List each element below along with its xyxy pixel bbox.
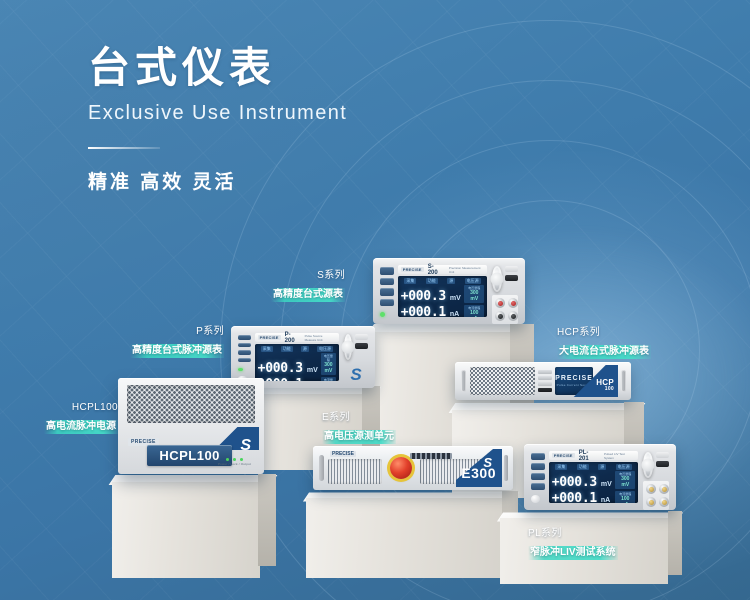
panel-button-dark[interactable]	[538, 388, 552, 392]
hcp-button-column[interactable]	[538, 367, 552, 395]
product-hcpl100[interactable]: PRECISE S HCPL100 Power / Lock / Output	[118, 378, 264, 474]
emergency-stop-button[interactable]	[390, 457, 412, 479]
label-s-series: S系列 高精度台式源表	[245, 270, 345, 303]
range-box: 电压量程 300 mV	[321, 353, 336, 375]
status-led-group	[218, 458, 251, 461]
current-readout-row: +000.1 nA	[401, 305, 462, 318]
rack-ear-right	[502, 449, 510, 487]
title-divider	[88, 147, 160, 149]
range-label: 电流量程	[323, 378, 334, 381]
knob-row[interactable]	[344, 334, 368, 360]
label-series: S系列	[245, 270, 345, 283]
model-sublabel: Pulse Source Measure Unit	[305, 334, 335, 342]
range-value: 100 nA	[466, 310, 482, 317]
rotary-knob[interactable]	[344, 334, 352, 360]
page-tagline: 精准 高效 灵活	[88, 167, 347, 194]
badge-subtext: 100	[596, 387, 614, 392]
range-box: 电压量程 300 mV	[464, 285, 484, 303]
hcp-front-panel: PRECISE Pulse Current Source HCP 100	[468, 365, 618, 397]
function-button[interactable]	[380, 299, 394, 307]
label-e-series: E系列 高电压源测单元	[322, 412, 432, 445]
lcd-tab[interactable]: 功能	[577, 464, 589, 470]
lcd-tab[interactable]: 电压源	[616, 464, 632, 470]
voltage-unit: mV	[450, 295, 461, 302]
voltage-unit: mV	[307, 367, 318, 374]
voltage-unit: mV	[601, 481, 612, 488]
range-label: 电压量程	[323, 354, 334, 362]
lcd-tab[interactable]: 源	[447, 278, 455, 284]
function-button[interactable]	[531, 483, 545, 490]
pedestal-e-series	[306, 488, 516, 506]
pedestal-front	[306, 498, 502, 578]
s-logo-icon: S	[240, 437, 251, 455]
brand-label: PRECISE	[401, 267, 424, 272]
lcd-main-area: +000.3 mV +000.1 nA 电压量程 300 mV 电流量程	[401, 285, 485, 317]
current-unit: nA	[601, 497, 610, 504]
e300-nameplate: E300	[461, 465, 496, 481]
current-value: +000.1	[552, 491, 597, 504]
label-hcpl100: HCPL100 高电流脉冲电源	[10, 402, 118, 435]
lcd-main-area: +000.3 mV +000.1 nA 电压量程 300 mV 电流量程	[258, 353, 336, 381]
current-value: +000.1	[258, 377, 303, 382]
panel-button[interactable]	[538, 382, 552, 386]
rack-handle[interactable]	[319, 455, 324, 482]
brand-label: PRECISE	[330, 451, 356, 457]
label-desc: 窄脉冲LIV测试系统	[528, 546, 618, 561]
output-button[interactable]	[505, 275, 518, 281]
label-hcp-series: HCP系列 大电流台式脉冲源表	[557, 327, 677, 360]
rotary-knob[interactable]	[643, 452, 653, 478]
range-value: 300 mV	[466, 290, 482, 302]
pedestal-front	[112, 482, 260, 578]
function-button[interactable]	[238, 350, 251, 355]
label-pl-series: PL系列 窄脉冲LIV测试系统	[528, 528, 658, 561]
output-button[interactable]	[355, 343, 368, 349]
lcd-readouts: +000.3 mV +000.1 nA	[401, 285, 462, 317]
mini-button-group[interactable]	[505, 266, 518, 281]
model-label: S-200	[428, 264, 442, 276]
model-sublabel: Precision Measurement Unit	[449, 266, 482, 274]
pedestal-hcp-series	[452, 398, 642, 418]
p-series-control-panel[interactable]: S	[341, 330, 371, 384]
lcd-tab[interactable]: 功能	[426, 278, 438, 284]
function-button[interactable]	[531, 453, 545, 460]
p-series-display-area: PRECISE P-200 Pulse Source Measure Unit …	[253, 330, 341, 384]
pedestal-pl-series	[500, 508, 680, 526]
hcp-badge: HCP 100	[596, 379, 614, 392]
model-sublabel: Pulsed LIV Test System	[604, 452, 633, 460]
range-box: 电压量程 300 mV	[615, 471, 635, 489]
p-series-button-rail[interactable]	[235, 330, 253, 384]
function-button[interactable]	[531, 463, 545, 470]
lcd-tab[interactable]: 源	[598, 464, 606, 470]
power-button[interactable]	[656, 452, 669, 458]
range-box: 电流量程 100 nA	[464, 305, 484, 317]
current-unit: nA	[450, 311, 459, 318]
screen-sub-label: Pulse Current Source	[557, 383, 592, 387]
panel-button[interactable]	[538, 370, 552, 374]
terminal-gold[interactable]	[646, 497, 656, 507]
hcpl100-mesh-grille	[127, 385, 255, 423]
s-series-brand-bar: PRECISE S-200 Precision Measurement Unit	[398, 265, 488, 274]
power-led-icon	[238, 368, 243, 371]
rack-handle[interactable]	[621, 370, 626, 392]
product-hcp-series[interactable]: PRECISE Pulse Current Source HCP 100	[455, 362, 631, 400]
label-series: E系列	[322, 412, 432, 425]
rack-ear-right	[618, 365, 628, 397]
label-series: HCPL100	[10, 402, 118, 415]
s-series-control-panel[interactable]	[489, 262, 521, 320]
current-readout-row: +000.1 nA	[258, 377, 318, 382]
function-button[interactable]	[238, 343, 251, 348]
product-e-series[interactable]: PRECISE S E300	[313, 446, 513, 490]
s-series-button-rail[interactable]	[377, 262, 396, 320]
range-box: 电流量程 100 nA	[321, 377, 336, 381]
page-subtitle: Exclusive Use Instrument	[88, 102, 347, 125]
rack-handle[interactable]	[461, 370, 466, 392]
status-led-icon	[226, 458, 229, 461]
label-desc: 高电压源测单元	[322, 430, 396, 445]
function-button[interactable]	[238, 358, 251, 363]
label-desc: 大电流台式脉冲源表	[557, 345, 651, 360]
power-switch[interactable]	[531, 495, 540, 503]
page-title: 台式仪表	[88, 44, 347, 92]
terminal-gold[interactable]	[659, 497, 669, 507]
label-series: P系列	[118, 326, 224, 339]
pedestal-side	[668, 511, 682, 575]
status-caption: Power / Lock / Output	[218, 462, 251, 466]
s-series-lcd-screen[interactable]: 采集 功能 源 电压源 +000.3 mV +000.1 nA	[398, 276, 488, 317]
p-series-lcd-screen[interactable]: 采集 功能 源 电压源 +000.3 mV +000.1 nA	[255, 344, 339, 381]
function-button[interactable]	[380, 278, 394, 286]
lcd-tab[interactable]: 电压源	[465, 278, 481, 284]
rack-ear-left	[316, 449, 326, 487]
terminal-gold[interactable]	[646, 484, 656, 494]
terminal-block[interactable]	[492, 295, 518, 324]
brand-label: PRECISE	[258, 335, 281, 340]
range-value: 300 mV	[617, 476, 633, 488]
rack-ear-left	[458, 365, 468, 397]
current-readout-row: +000.1 nA	[552, 491, 613, 504]
terminal-gold[interactable]	[659, 484, 669, 494]
product-s-series[interactable]: PRECISE S-200 Precision Measurement Unit…	[373, 258, 525, 324]
lcd-tab-bar[interactable]: 采集 功能 源 电压源	[401, 278, 485, 285]
lcd-readouts: +000.3 mV +000.1 nA	[552, 471, 613, 503]
voltage-readout-row: +000.3 mV	[401, 289, 462, 304]
terminal-red[interactable]	[508, 298, 518, 308]
rotary-knob[interactable]	[492, 266, 502, 292]
lcd-tab-bar[interactable]: 采集 功能 源 电压源	[258, 346, 336, 353]
knob-row[interactable]	[643, 452, 669, 478]
screen-brand-label: PRECISE	[555, 375, 593, 382]
voltage-readout-row: +000.3 mV	[258, 361, 318, 376]
lcd-tab[interactable]: 采集	[261, 346, 273, 352]
ventilation-grille	[328, 459, 382, 484]
label-desc: 高电流脉冲电源	[44, 420, 118, 435]
range-box: 电流量程 100 nA	[615, 491, 635, 503]
mini-button-group[interactable]	[656, 452, 669, 467]
lcd-range-panel: 电压量程 300 mV 电流量程 100 nA	[464, 285, 484, 317]
brand-label: PRECISE	[552, 453, 575, 458]
lcd-readouts: +000.3 mV +000.1 nA	[258, 353, 318, 381]
function-button[interactable]	[238, 335, 251, 340]
terminal-black[interactable]	[508, 311, 518, 321]
dip-switch-bank[interactable]	[410, 453, 452, 459]
hcp-lcd-screen[interactable]: PRECISE Pulse Current Source	[555, 367, 593, 395]
power-button[interactable]	[355, 334, 368, 340]
model-label: PL-201	[579, 450, 597, 462]
pl-series-display-area: PRECISE PL-201 Pulsed LIV Test System 采集…	[547, 448, 641, 506]
voltage-value: +000.3	[552, 475, 597, 490]
function-button[interactable]	[380, 267, 394, 275]
function-button[interactable]	[380, 288, 394, 296]
pl-series-button-rail[interactable]	[528, 448, 547, 506]
label-series: PL系列	[528, 528, 658, 541]
pl-series-lcd-screen[interactable]: 采集 功能 源 电压源 +000.3 mV +000.1 nA	[549, 462, 639, 503]
terminal-black[interactable]	[495, 311, 505, 321]
rack-handle[interactable]	[504, 455, 508, 482]
power-led-icon	[380, 312, 385, 317]
pl-series-brand-bar: PRECISE PL-201 Pulsed LIV Test System	[549, 451, 639, 460]
lcd-tab[interactable]: 采集	[555, 464, 567, 470]
label-desc: 高精度台式脉冲源表	[130, 344, 224, 359]
hero-header: 台式仪表 Exclusive Use Instrument 精准 高效 灵活	[88, 44, 347, 194]
voltage-value: +000.3	[258, 361, 303, 376]
lcd-tab-bar[interactable]: 采集 功能 源 电压源	[552, 464, 636, 471]
label-desc: 高精度台式源表	[271, 288, 345, 303]
ventilation-grille	[470, 367, 535, 395]
lcd-range-panel: 电压量程 300 mV 电流量程 100 nA	[321, 353, 336, 381]
lcd-tab[interactable]: 功能	[281, 346, 293, 352]
current-value: +000.1	[401, 305, 446, 318]
lcd-tab[interactable]: 采集	[404, 278, 416, 284]
mini-button-group[interactable]	[355, 334, 368, 349]
lcd-main-area: +000.3 mV +000.1 nA 电压量程 300 mV 电流量程	[552, 471, 636, 503]
panel-button[interactable]	[538, 376, 552, 380]
voltage-readout-row: +000.3 mV	[552, 475, 613, 490]
range-value: 300 mV	[323, 362, 334, 374]
hcpl100-status-leds: Power / Lock / Output	[218, 458, 251, 466]
s-logo-icon: S	[350, 365, 361, 385]
terminal-block[interactable]	[643, 481, 669, 510]
label-series: HCP系列	[557, 327, 677, 340]
power-button[interactable]	[505, 266, 518, 272]
status-led-icon	[240, 458, 243, 461]
output-button[interactable]	[656, 461, 669, 467]
product-pl-series[interactable]: PRECISE PL-201 Pulsed LIV Test System 采集…	[524, 444, 676, 510]
pedestal-side	[258, 474, 276, 566]
lcd-range-panel: 电压量程 300 mV 电流量程 100 nA	[615, 471, 635, 503]
label-p-series: P系列 高精度台式脉冲源表	[118, 326, 224, 359]
pl-series-control-panel[interactable]	[640, 448, 672, 506]
model-label: P-200	[285, 332, 298, 344]
e300-front-panel: PRECISE S E300	[326, 449, 502, 487]
terminal-red[interactable]	[495, 298, 505, 308]
range-value: 100 nA	[617, 496, 633, 503]
function-button[interactable]	[531, 473, 545, 480]
p-series-brand-bar: PRECISE P-200 Pulse Source Measure Unit	[255, 333, 339, 342]
lcd-tab[interactable]: 电压源	[317, 346, 333, 352]
knob-row[interactable]	[492, 266, 518, 292]
lcd-tab[interactable]: 源	[301, 346, 309, 352]
hcpl100-front-panel: PRECISE S HCPL100 Power / Lock / Output	[123, 427, 259, 469]
voltage-value: +000.3	[401, 289, 446, 304]
status-led-icon	[233, 458, 236, 461]
s-series-display-area: PRECISE S-200 Precision Measurement Unit…	[396, 262, 490, 320]
